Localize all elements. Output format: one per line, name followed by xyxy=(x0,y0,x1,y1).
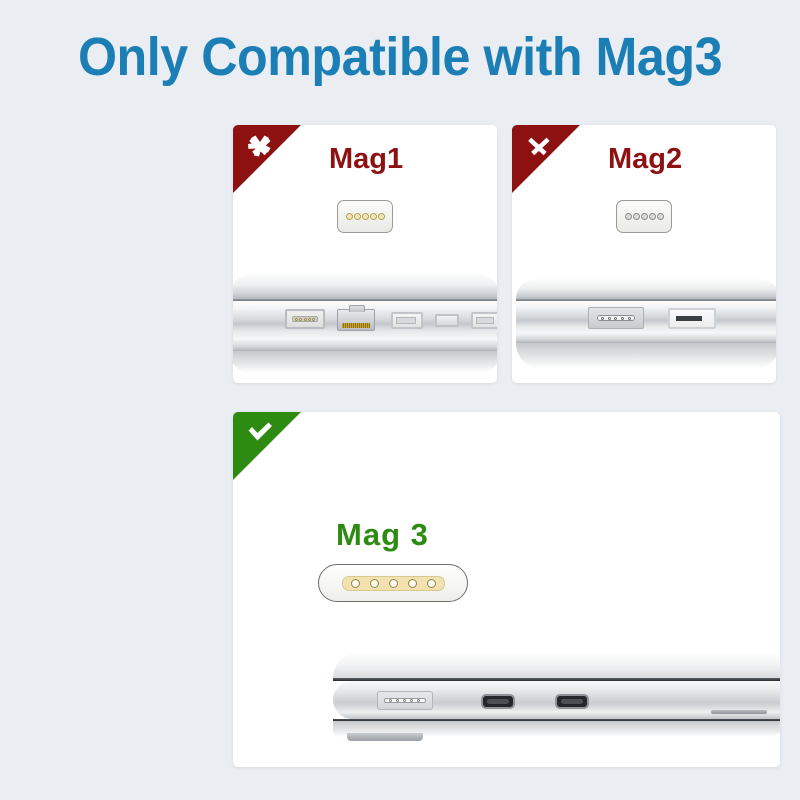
port-usb-c-2 xyxy=(555,694,589,709)
incompatible-flag-mag1 xyxy=(233,125,301,193)
card-mag1: Mag1 xyxy=(233,125,497,383)
connector-mag2 xyxy=(616,200,672,233)
card-title-mag2: Mag2 xyxy=(608,143,682,176)
pin xyxy=(408,579,417,588)
laptop-edge-notch xyxy=(711,710,767,714)
infographic-page: Only Compatible with Mag3 Mag1 xyxy=(0,0,800,800)
pin xyxy=(346,213,353,220)
port-ethernet xyxy=(337,309,375,331)
port-magsafe1 xyxy=(285,309,325,329)
laptop-foot xyxy=(347,733,423,741)
card-title-mag1: Mag1 xyxy=(329,143,403,176)
pin xyxy=(641,213,648,220)
port-usb-a xyxy=(668,308,716,329)
connector-mag1 xyxy=(337,200,393,233)
pin xyxy=(370,213,377,220)
page-title: Only Compatible with Mag3 xyxy=(28,26,772,88)
laptop-image-mag3 xyxy=(333,644,780,762)
connector-pins-mag2 xyxy=(625,213,664,220)
pin xyxy=(633,213,640,220)
pin xyxy=(378,213,385,220)
connector-pins-mag1 xyxy=(346,213,385,220)
card-mag2: Mag2 xyxy=(512,125,776,383)
pin xyxy=(354,213,361,220)
port-usb-a-2 xyxy=(471,312,497,329)
pin xyxy=(389,579,398,588)
pin xyxy=(625,213,632,220)
port-magsafe3 xyxy=(377,691,433,710)
card-mag3: Mag 3 xyxy=(233,412,780,767)
pin xyxy=(427,579,436,588)
port-magsafe2 xyxy=(588,307,644,329)
pin xyxy=(657,213,664,220)
laptop-image-mag2 xyxy=(516,267,776,383)
port-usb-a-1 xyxy=(391,312,423,329)
connector-mag3 xyxy=(318,564,468,602)
pin xyxy=(649,213,656,220)
pin xyxy=(362,213,369,220)
port-usb-c-1 xyxy=(481,694,515,709)
laptop-image-mag1 xyxy=(233,267,497,383)
pin xyxy=(351,579,360,588)
incompatible-flag-mag2 xyxy=(512,125,580,193)
port-mini-displayport xyxy=(435,314,459,327)
connector-pins-mag3 xyxy=(342,576,445,591)
card-title-mag3: Mag 3 xyxy=(336,517,429,553)
compatible-flag-mag3 xyxy=(233,412,301,480)
pin xyxy=(370,579,379,588)
